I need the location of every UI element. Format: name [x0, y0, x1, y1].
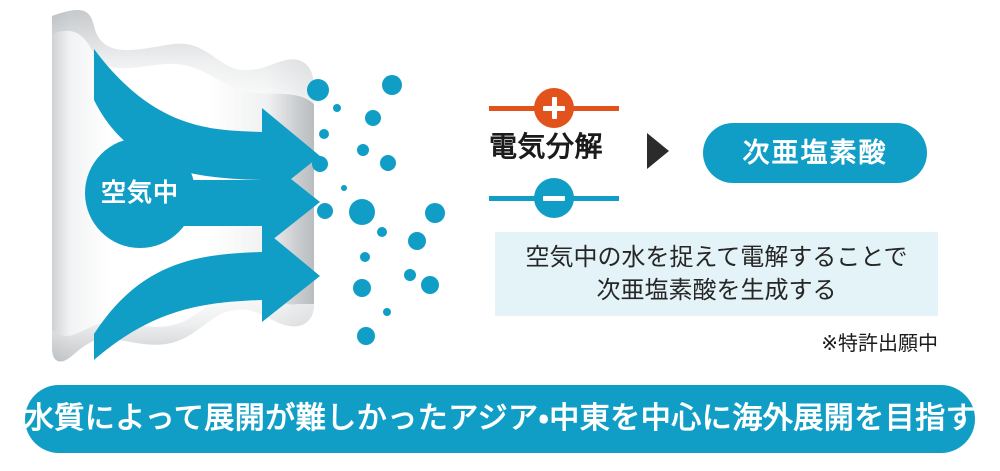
water-droplet	[380, 155, 396, 171]
water-droplet	[421, 276, 439, 294]
anode-plus-pole	[489, 88, 619, 128]
minus-icon	[534, 178, 574, 218]
plus-icon	[534, 88, 574, 128]
description-line-2: 次亜塩素酸を生成する	[597, 274, 837, 307]
water-droplet	[317, 203, 333, 219]
water-droplet	[341, 185, 347, 191]
water-droplet	[353, 279, 371, 297]
product-pill-hypochlorous-acid: 次亜塩素酸	[703, 123, 927, 183]
water-droplet	[425, 203, 445, 223]
patent-pending-note: ※特許出願中	[495, 334, 938, 354]
right-triangle-arrow-icon	[645, 132, 671, 170]
water-droplet	[333, 104, 341, 112]
bottom-banner: 水質によって展開が難しかったアジア・中東を中心に海外展開を目指す	[25, 385, 975, 453]
water-droplet	[382, 75, 402, 95]
water-droplet	[408, 232, 426, 250]
water-droplet	[312, 156, 328, 172]
water-droplet	[319, 129, 329, 139]
water-droplet	[307, 79, 329, 101]
infographic-canvas: 空気中 電気分解 次亜塩素酸 空気中の水を捉えて電解することで 次亜塩素酸を生成…	[0, 0, 1000, 471]
product-label: 次亜塩素酸	[743, 140, 888, 167]
water-droplet	[377, 227, 387, 237]
air-source-badge: 空気中	[85, 138, 195, 248]
air-source-label: 空気中	[101, 181, 179, 206]
water-droplet	[357, 327, 375, 345]
water-droplet	[357, 144, 369, 156]
water-droplet	[383, 308, 391, 316]
bottom-banner-text: 水質によって展開が難しかったアジア・中東を中心に海外展開を目指す	[24, 404, 977, 434]
electrolysis-label: 電気分解	[489, 133, 629, 161]
water-droplet	[349, 199, 375, 225]
water-droplet	[404, 269, 416, 281]
water-droplet	[360, 252, 370, 262]
cathode-minus-pole	[489, 178, 619, 218]
description-box: 空気中の水を捉えて電解することで 次亜塩素酸を生成する	[495, 232, 938, 316]
water-droplets-group	[300, 60, 480, 360]
water-droplet	[365, 110, 381, 126]
description-line-1: 空気中の水を捉えて電解することで	[525, 241, 907, 274]
